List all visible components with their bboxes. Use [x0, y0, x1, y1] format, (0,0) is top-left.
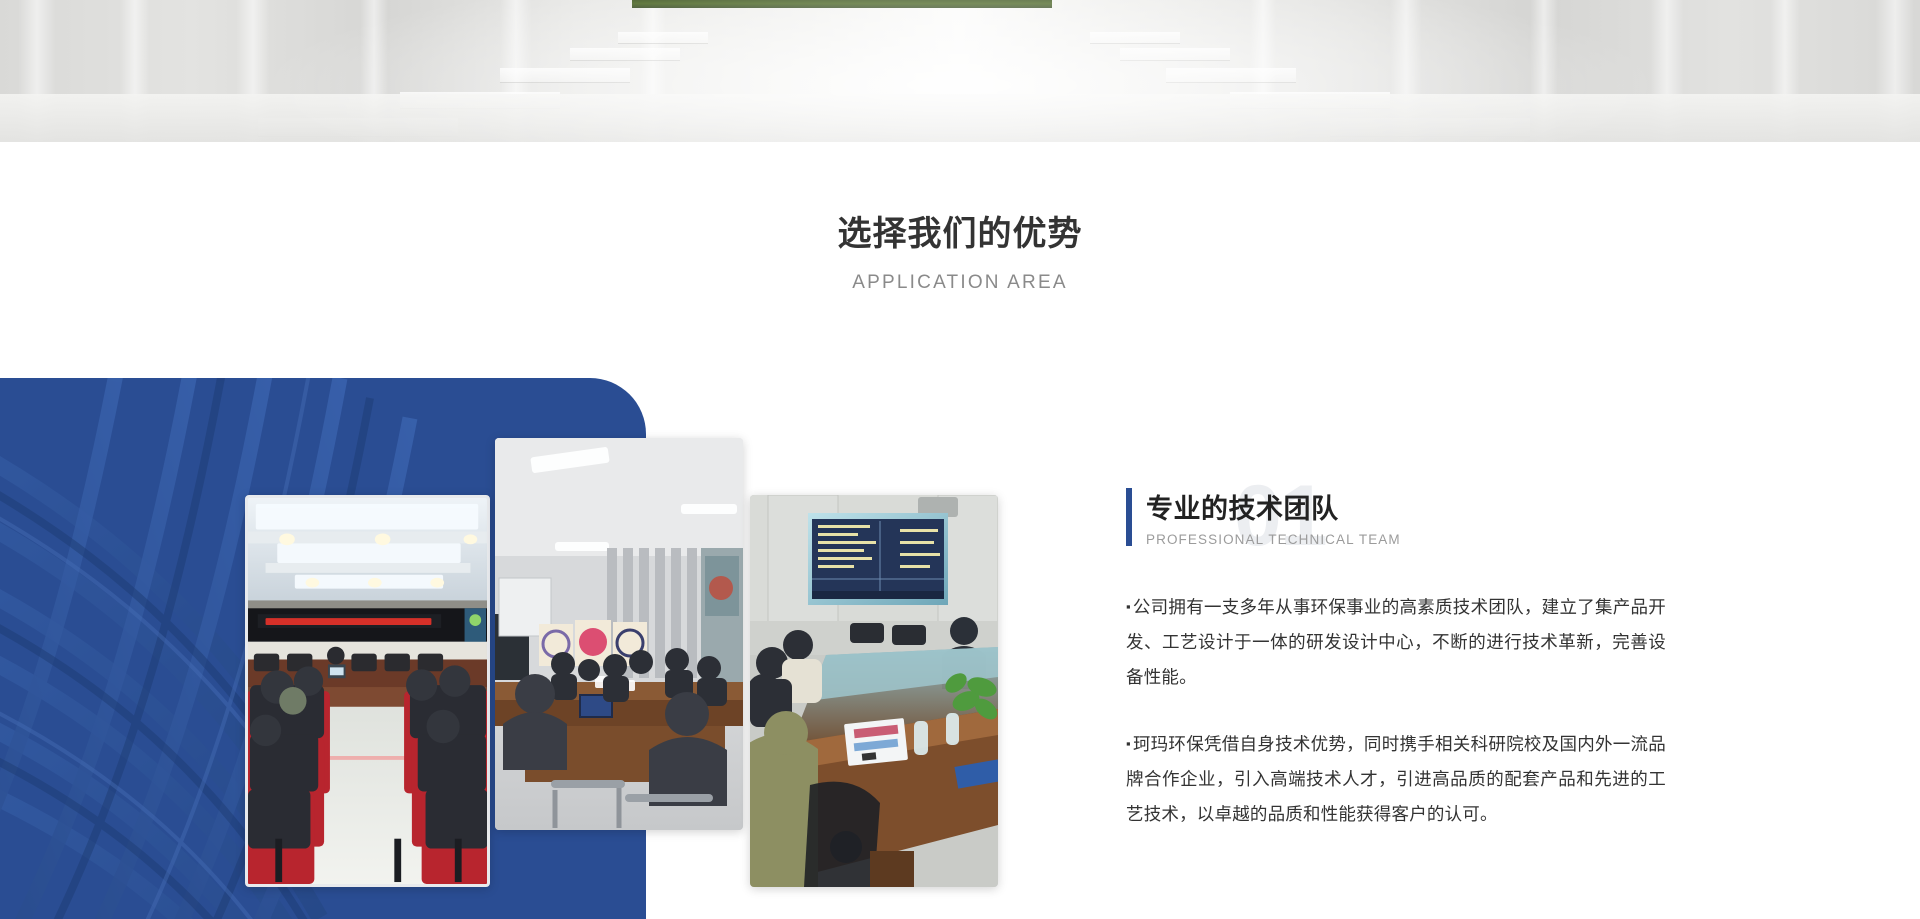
hero-vignette [0, 0, 1920, 142]
feature-paragraph-1-text: 公司拥有一支多年从事环保事业的高素质技术团队，建立了集产品开发、工艺设计于一体的… [1126, 597, 1666, 687]
meeting-room-image [495, 438, 743, 830]
section-heading: 选择我们的优势 APPLICATION AREA [0, 142, 1920, 294]
feature-paragraph-2: ▪珂玛环保凭借自身技术优势，同时携手相关科研院校及国内外一流品牌合作企业，引入高… [1126, 726, 1666, 832]
feature-paragraph-1: ▪公司拥有一支多年从事环保事业的高素质技术团队，建立了集产品开发、工艺设计于一体… [1126, 589, 1666, 695]
feature-header: 01 专业的技术团队 PROFESSIONAL TECHNICAL TEAM [1126, 485, 1666, 559]
section-subtitle: APPLICATION AREA [0, 272, 1920, 294]
feature-paragraph-2-text: 珂玛环保凭借自身技术优势，同时携手相关科研院校及国内外一流品牌合作企业，引入高端… [1126, 734, 1666, 824]
bullet-glyph-icon: ▪ [1126, 599, 1131, 614]
feature-title-en: PROFESSIONAL TECHNICAL TEAM [1146, 532, 1666, 547]
feature-content: 01 专业的技术团队 PROFESSIONAL TECHNICAL TEAM ▪… [1126, 485, 1666, 832]
photo-meeting-room-discussion[interactable] [495, 438, 743, 830]
page-root: 选择我们的优势 APPLICATION AREA [0, 0, 1920, 919]
auditorium-image [248, 498, 487, 884]
bullet-glyph-icon: ▪ [1126, 736, 1131, 751]
photo-auditorium-training[interactable] [245, 495, 490, 887]
section-title: 选择我们的优势 [0, 214, 1920, 255]
accent-bar [1126, 488, 1132, 546]
feature-title-cn: 专业的技术团队 [1146, 485, 1666, 526]
projector-room-image [750, 495, 998, 887]
photo-projector-presentation[interactable] [750, 495, 998, 887]
hero-banner [0, 0, 1920, 142]
